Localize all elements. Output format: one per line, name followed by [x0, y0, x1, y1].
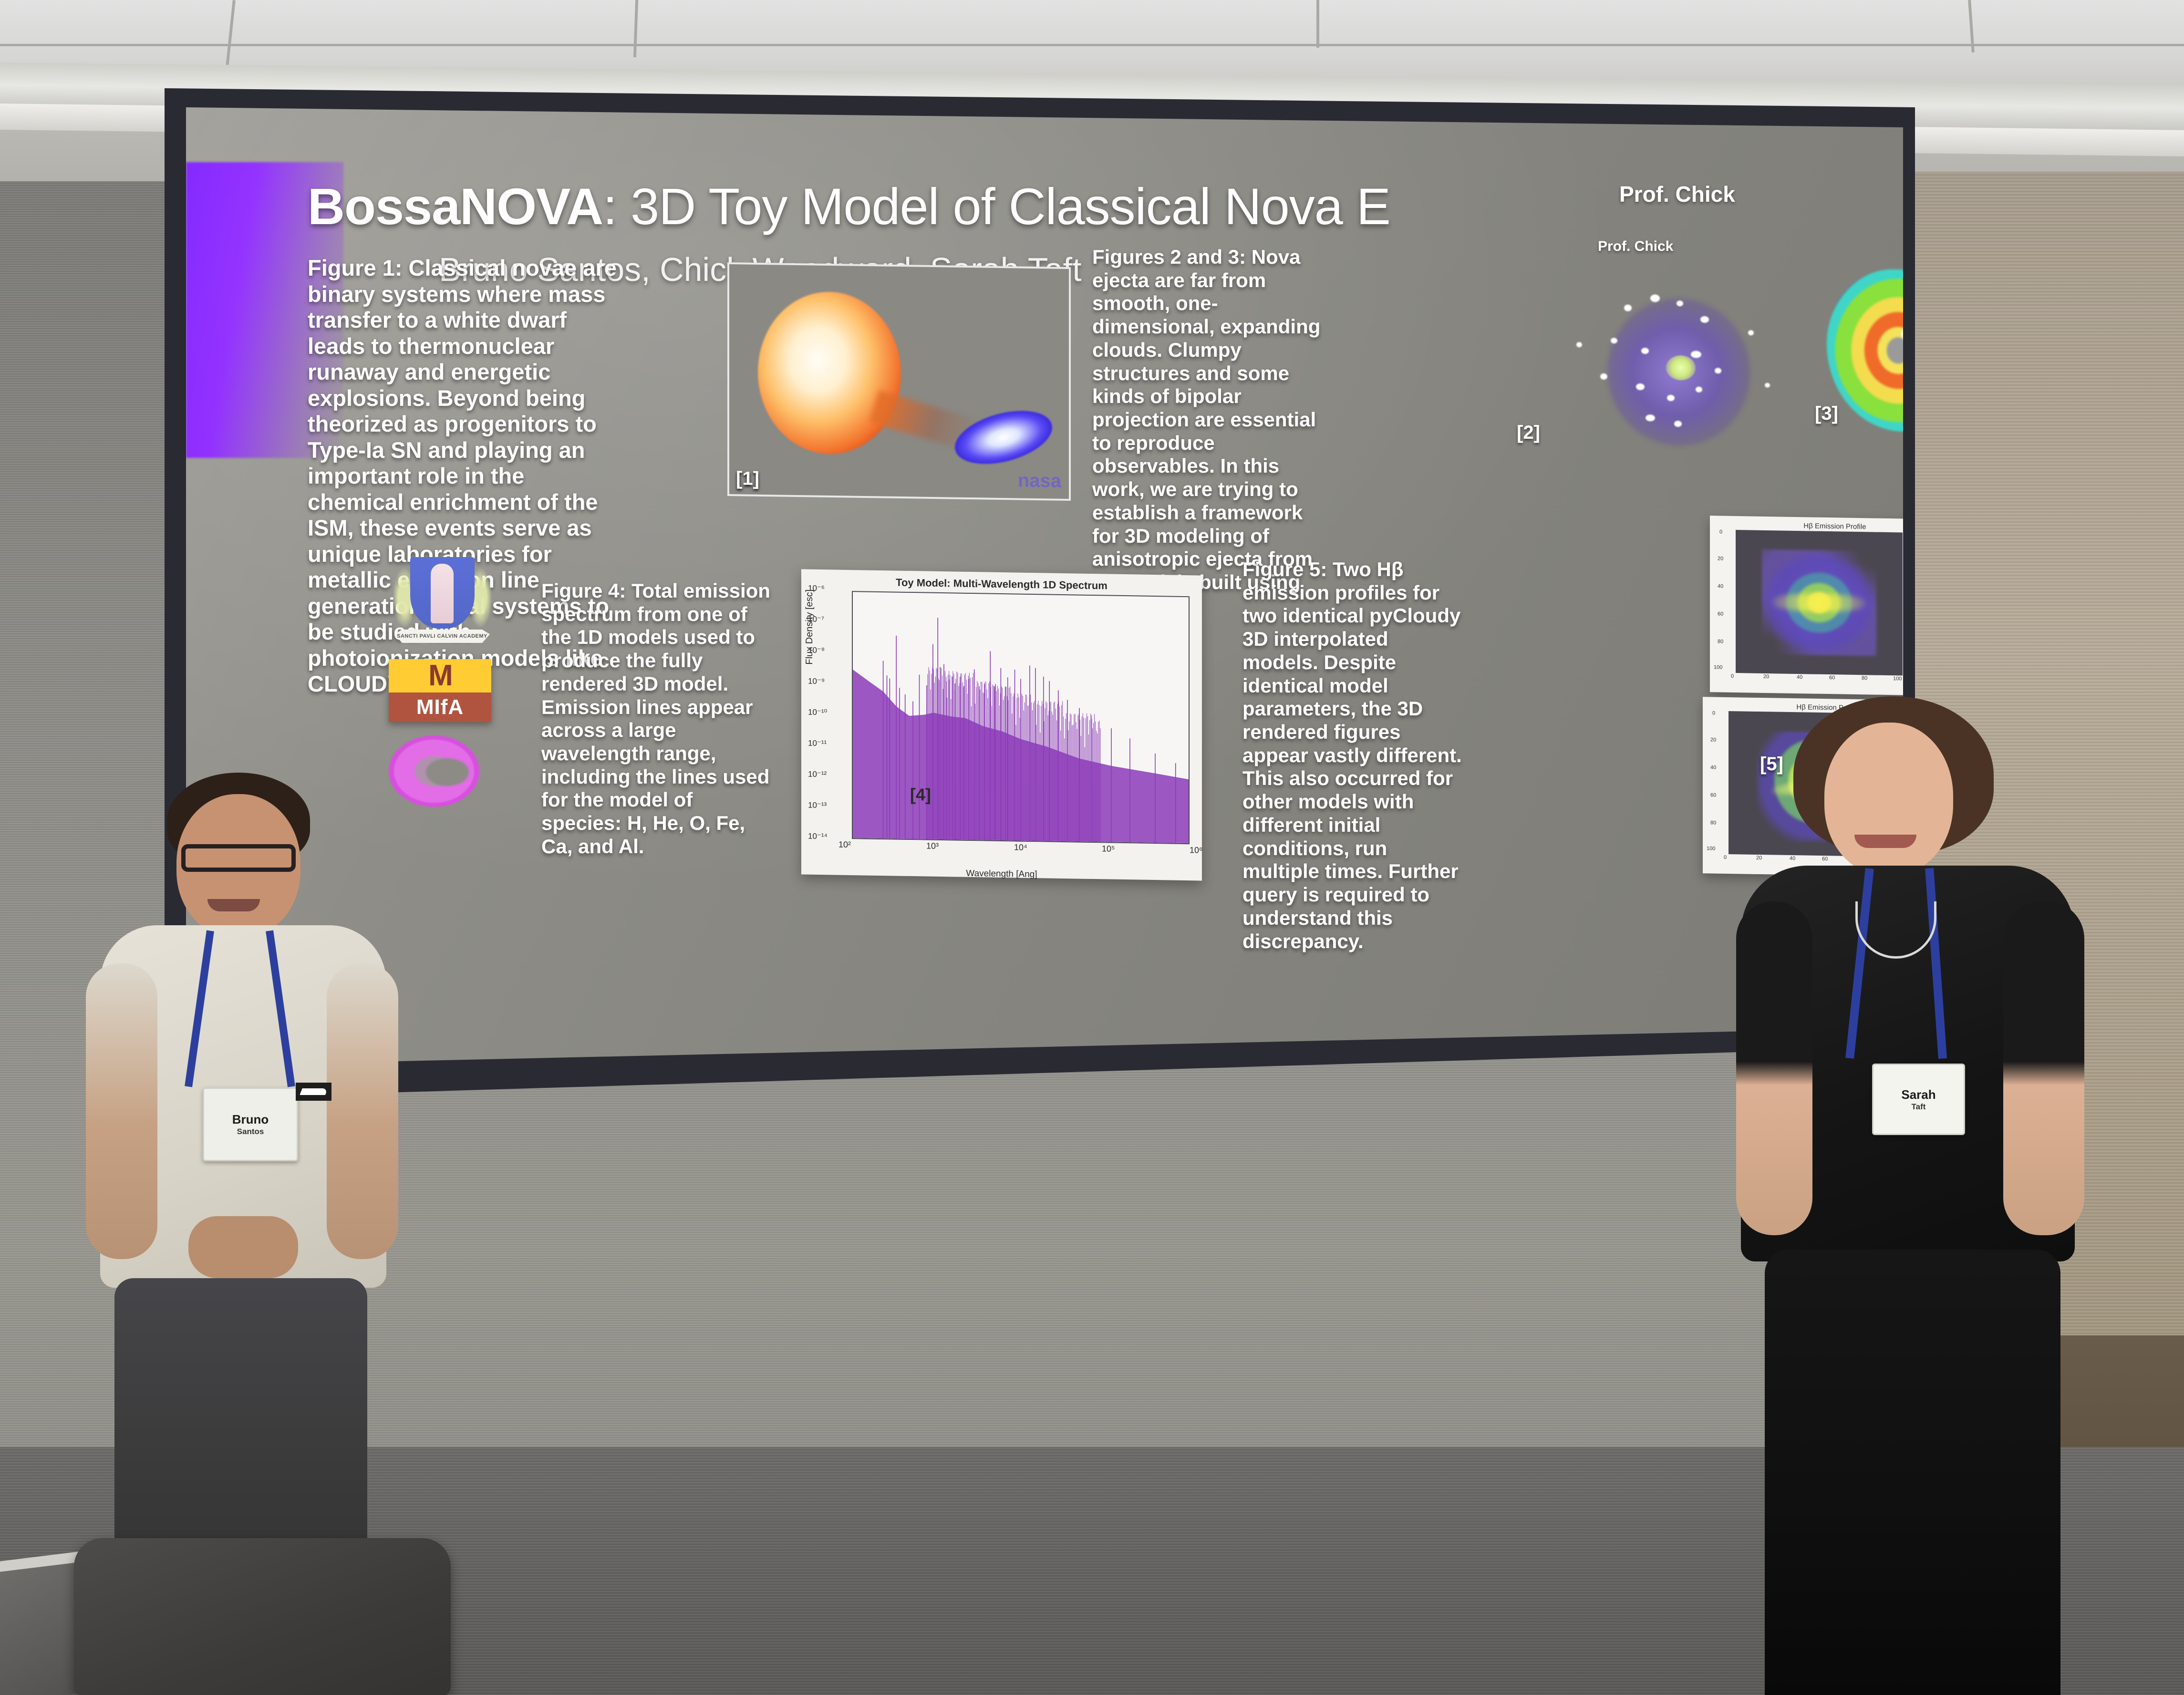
hb-ytick: 20: [1710, 737, 1716, 743]
arm-left: [86, 963, 157, 1259]
chart-xtick: 10⁴: [1014, 842, 1027, 852]
hb-panel-top-image: [1736, 530, 1903, 675]
prof-chick-label-large: Prof. Chick: [1619, 181, 1735, 207]
hb-xtick: 100: [1893, 676, 1902, 682]
prof-chick-label-small: Prof. Chick: [1598, 238, 1673, 255]
nova-shell-falsecolor: [1827, 269, 1903, 433]
hb-ytick: 60: [1710, 792, 1716, 798]
chart-ytick: 10⁻¹³: [808, 801, 827, 811]
red-giant-star-icon: [758, 291, 901, 455]
chart-ytick: 10⁻⁷: [808, 615, 824, 625]
hb-xtick: 0: [1731, 673, 1734, 679]
badge-first-name: Bruno: [232, 1112, 269, 1127]
chart-xlabel: Wavelength [Ang]: [801, 866, 1202, 882]
hb-panel-top: Hβ Emission Profile 1e-24 5 4 3 2 1 0 0 …: [1710, 516, 1903, 696]
ejecta-core: [1666, 355, 1696, 381]
chart-ytick: 10⁻⁸: [808, 646, 825, 656]
hb-ytick: 80: [1710, 820, 1716, 826]
hb-ytick: 0: [1719, 529, 1722, 535]
face: [1824, 723, 1953, 875]
clasped-hands: [188, 1216, 298, 1278]
figure4-caption: Figure 4: Total emission spectrum from o…: [541, 579, 770, 858]
hb-emission-render-top: [1762, 549, 1876, 656]
university-crest-logo: SANCTI PAVLI CALVIN ACADEMY: [389, 553, 496, 649]
hb-ytick: 0: [1712, 710, 1715, 716]
badge-first-name: Sarah: [1901, 1087, 1936, 1102]
mifa-wordmark: MIfA: [389, 692, 491, 722]
chart-ytick: 10⁻¹²: [808, 770, 827, 780]
white-dwarf-disk-icon: [949, 401, 1058, 474]
person-right: Sarah Taft: [1736, 696, 2118, 1695]
crest-figure-icon: [431, 564, 454, 623]
chart-ytick: 10⁻¹¹: [808, 739, 827, 749]
chart-ytick: 10⁻⁹: [808, 677, 825, 687]
arm-right: [327, 963, 398, 1259]
umn-m-glyph: M: [428, 661, 452, 691]
arm-left: [1736, 901, 1812, 1235]
pants: [1765, 1250, 2060, 1695]
arm-right: [2003, 901, 2084, 1235]
hb-ytick: 60: [1718, 611, 1723, 617]
chart-xtick: 10²: [838, 840, 851, 850]
chart-ytick: 10⁻⁶: [808, 584, 825, 594]
mifa-label: MIfA: [416, 695, 464, 719]
hb-ytick: 40: [1710, 765, 1716, 770]
figure2-tag: [2]: [1517, 422, 1540, 444]
mouth: [1854, 835, 1916, 848]
chart-xtick: 10⁶: [1190, 845, 1202, 855]
chart-ytick: 10⁻¹⁰: [808, 708, 827, 718]
page-title: BossaNOVA: 3D Toy Model of Classical Nov…: [308, 176, 1643, 236]
hb-xtick: 80: [1862, 675, 1867, 681]
hb-xtick: 20: [1763, 674, 1769, 680]
hb-xtick: 40: [1797, 674, 1802, 680]
logo-column: SANCTI PAVLI CALVIN ACADEMY M MIfA: [389, 553, 503, 807]
rolling-suitcase: [74, 1538, 451, 1695]
chart-xtick: 10⁵: [1102, 844, 1115, 854]
figure4-chart: Toy Model: Multi-Wavelength 1D Spectrum …: [801, 569, 1202, 880]
glasses-icon: [181, 844, 296, 872]
mifa-logo: M MIfA: [389, 659, 491, 722]
chart-ytick: 10⁻¹⁴: [808, 832, 828, 842]
hb-xtick: 60: [1829, 675, 1835, 681]
hb-ytick: 40: [1718, 583, 1723, 589]
chart-plot-area: [4]: [852, 591, 1190, 844]
hb-ytick: 100: [1707, 846, 1715, 851]
name-badge-left: Bruno Santos: [203, 1087, 298, 1161]
figure5-caption: Figure 5: Two Hβ emission profiles for t…: [1242, 558, 1462, 953]
title-rest: : 3D Toy Model of Classical Nova E: [603, 177, 1390, 235]
spectrum-series: [853, 592, 1189, 843]
figure4-tag: [4]: [910, 785, 931, 805]
figure1-watermark: nasa: [1018, 470, 1061, 492]
badge-last-name: Taft: [1912, 1102, 1926, 1112]
figure1-tag: [1]: [736, 468, 759, 490]
figure1-image: [1] nasa: [727, 262, 1071, 501]
hb-ytick: 100: [1714, 664, 1722, 670]
swoosh-icon: [296, 1083, 331, 1101]
hb-xtick: 0: [1724, 855, 1727, 860]
photo-scene: BossaNOVA: 3D Toy Model of Classical Nov…: [0, 0, 2184, 1695]
mouth: [207, 899, 260, 911]
name-badge-right: Sarah Taft: [1872, 1064, 1965, 1135]
figure2-image: [1548, 270, 1801, 474]
figure3-tag: [3]: [1815, 403, 1838, 424]
chart-xtick: 10³: [926, 841, 939, 851]
crest-ribbon-text: SANCTI PAVLI CALVIN ACADEMY: [394, 630, 490, 643]
hb-ytick: 20: [1718, 556, 1723, 561]
title-brand: BossaNOVA: [308, 177, 603, 235]
badge-last-name: Santos: [237, 1127, 264, 1137]
umn-m-block: M: [389, 659, 491, 692]
hb-ytick: 80: [1718, 639, 1723, 644]
